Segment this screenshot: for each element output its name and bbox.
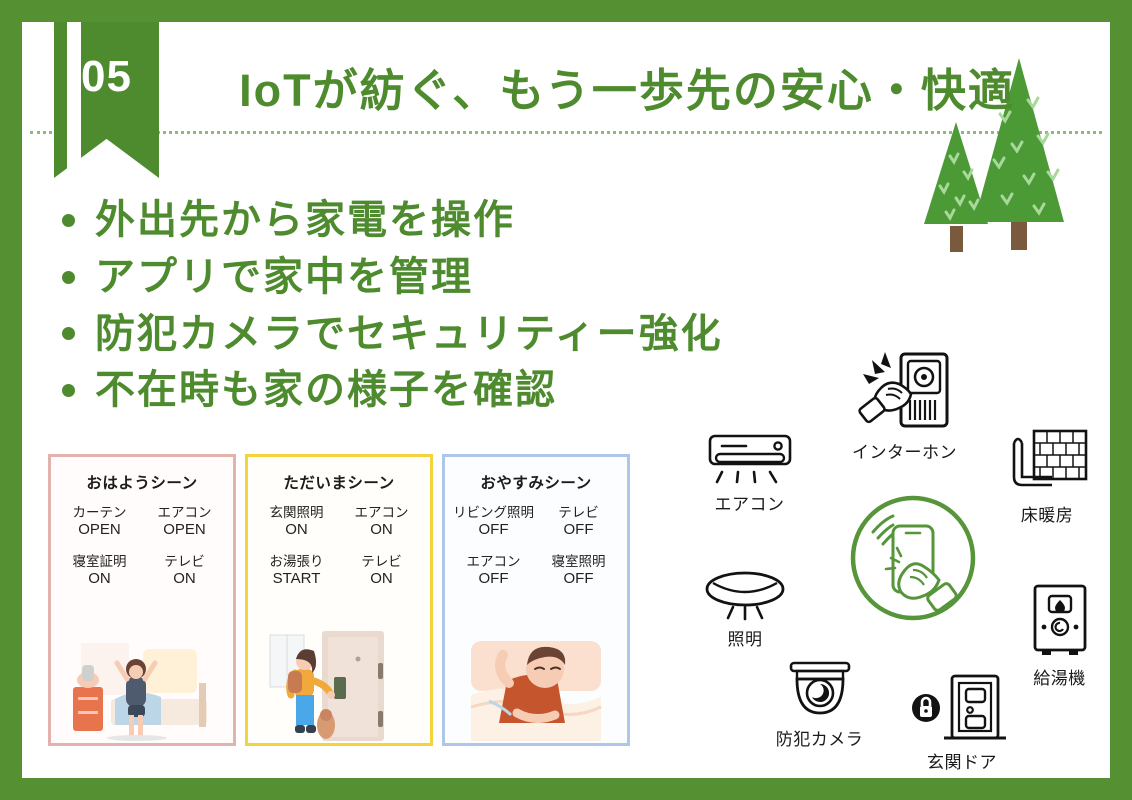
scene-card-morning[interactable]: おはようシーン カーテン OPEN エアコン OPEN 寝室証明 ON (48, 454, 236, 746)
floor-heating-icon (1004, 427, 1090, 499)
scene-illustration-homecoming (248, 625, 430, 743)
scene-card-title: ただいまシーン (248, 471, 430, 493)
device-label: 寝室証明 (57, 554, 142, 570)
device-state: START (254, 570, 339, 588)
device-floor-heating[interactable]: 床暖房 (992, 427, 1102, 526)
scene-device-cell: お湯張り START (254, 554, 339, 589)
list-item: 外出先から家電を操作 (62, 192, 723, 249)
device-state: ON (339, 570, 424, 588)
device-security-camera[interactable]: 防犯カメラ (757, 657, 882, 750)
man-sleeping-icon (445, 625, 627, 743)
feature-bullet-list: 外出先から家電を操作 アプリで家中を管理 防犯カメラでセキュリティー強化 不在時… (62, 192, 723, 419)
device-state: OFF (536, 521, 621, 539)
scene-device-grid: リビング照明 OFF テレビ OFF エアコン OFF 寝室照明 OFF (445, 505, 627, 589)
scene-device-cell: エアコン OFF (451, 554, 536, 589)
scene-card-homecoming[interactable]: ただいまシーン 玄関照明 ON エアコン ON お湯張り START (245, 454, 433, 746)
device-label: リビング照明 (451, 505, 536, 521)
bullet-dot-icon (62, 384, 75, 397)
device-label: 照明 (690, 625, 800, 650)
scene-device-grid: 玄関照明 ON エアコン ON お湯張り START テレビ ON (248, 505, 430, 589)
device-label: インターホン (827, 438, 982, 463)
security-camera-icon (777, 657, 863, 723)
ceiling-light-icon (700, 567, 790, 623)
device-label: カーテン (57, 505, 142, 521)
device-label: 給湯機 (1007, 664, 1110, 689)
device-label: 玄関照明 (254, 505, 339, 521)
scene-device-cell: 玄関照明 ON (254, 505, 339, 540)
device-label: エアコン (692, 490, 807, 515)
scene-device-cell: リビング照明 OFF (451, 505, 536, 540)
bullet-text: 外出先から家電を操作 (95, 192, 515, 249)
device-label: テレビ (536, 505, 621, 521)
scene-device-grid: カーテン OPEN エアコン OPEN 寝室証明 ON テレビ ON (51, 505, 233, 589)
device-aircon[interactable]: エアコン (692, 430, 807, 515)
device-state: OFF (536, 570, 621, 588)
scene-card-goodnight[interactable]: おやすみシーン リビング照明 OFF テレビ OFF エアコン OFF (442, 454, 630, 746)
scene-card-group: おはようシーン カーテン OPEN エアコン OPEN 寝室証明 ON (48, 454, 630, 746)
device-label: お湯張り (254, 554, 339, 570)
scene-device-cell: テレビ OFF (536, 505, 621, 540)
slide-content: 05 IoTが紡ぐ、もう一歩先の安心・快適 外出先から家電を操作 アプリで家中を… (22, 22, 1110, 778)
scene-device-cell: 寝室証明 ON (57, 554, 142, 589)
device-label: 床暖房 (992, 501, 1102, 526)
list-item: アプリで家中を管理 (62, 249, 723, 306)
smart-home-hub[interactable] (840, 492, 985, 624)
bullet-text: アプリで家中を管理 (95, 249, 473, 306)
page-title: IoTが紡ぐ、もう一歩先の安心・快適 (172, 54, 1082, 119)
device-water-heater[interactable]: 給湯機 (1007, 582, 1110, 689)
scene-device-cell: テレビ ON (339, 554, 424, 589)
device-state: ON (254, 521, 339, 539)
list-item: 防犯カメラでセキュリティー強化 (62, 306, 723, 363)
woman-stretching-icon (51, 625, 233, 743)
device-front-door[interactable]: 玄関ドア (902, 672, 1022, 773)
bullet-dot-icon (62, 214, 75, 227)
device-state: OFF (451, 521, 536, 539)
iot-device-cluster: エアコン (662, 342, 1110, 772)
device-label: 寝室照明 (536, 554, 621, 570)
smartphone-tap-wifi-icon (847, 492, 979, 624)
device-label: エアコン (339, 505, 424, 521)
woman-at-door-icon (248, 625, 430, 743)
scene-card-title: おはようシーン (51, 471, 233, 493)
scene-device-cell: エアコン OPEN (142, 505, 227, 540)
bullet-text: 不在時も家の様子を確認 (95, 362, 557, 419)
scene-device-cell: 寝室照明 OFF (536, 554, 621, 589)
water-heater-icon (1025, 582, 1095, 662)
bullet-text: 防犯カメラでセキュリティー強化 (95, 306, 723, 363)
device-label: エアコン (142, 505, 227, 521)
device-state: ON (142, 570, 227, 588)
ribbon-fold-notch (67, 22, 81, 178)
scene-device-cell: カーテン OPEN (57, 505, 142, 540)
scene-illustration-morning (51, 625, 233, 743)
front-door-lock-icon (910, 672, 1014, 746)
device-label: 玄関ドア (902, 748, 1022, 773)
device-label: テレビ (339, 554, 424, 570)
device-label: テレビ (142, 554, 227, 570)
bullet-dot-icon (62, 327, 75, 340)
scene-card-title: おやすみシーン (445, 471, 627, 493)
bullet-dot-icon (62, 271, 75, 284)
device-state: OPEN (57, 521, 142, 539)
air-conditioner-icon (704, 430, 796, 488)
device-state: OFF (451, 570, 536, 588)
list-item: 不在時も家の様子を確認 (62, 362, 723, 419)
device-intercom[interactable]: インターホン (827, 350, 982, 463)
slide-root: 05 IoTが紡ぐ、もう一歩先の安心・快適 外出先から家電を操作 アプリで家中を… (0, 0, 1132, 800)
device-label: エアコン (451, 554, 536, 570)
device-state: ON (57, 570, 142, 588)
scene-device-cell: テレビ ON (142, 554, 227, 589)
device-ceiling-light[interactable]: 照明 (690, 567, 800, 650)
device-label: 防犯カメラ (757, 725, 882, 750)
device-state: ON (339, 521, 424, 539)
scene-device-cell: エアコン ON (339, 505, 424, 540)
scene-illustration-goodnight (445, 625, 627, 743)
device-state: OPEN (142, 521, 227, 539)
intercom-icon (855, 350, 955, 436)
